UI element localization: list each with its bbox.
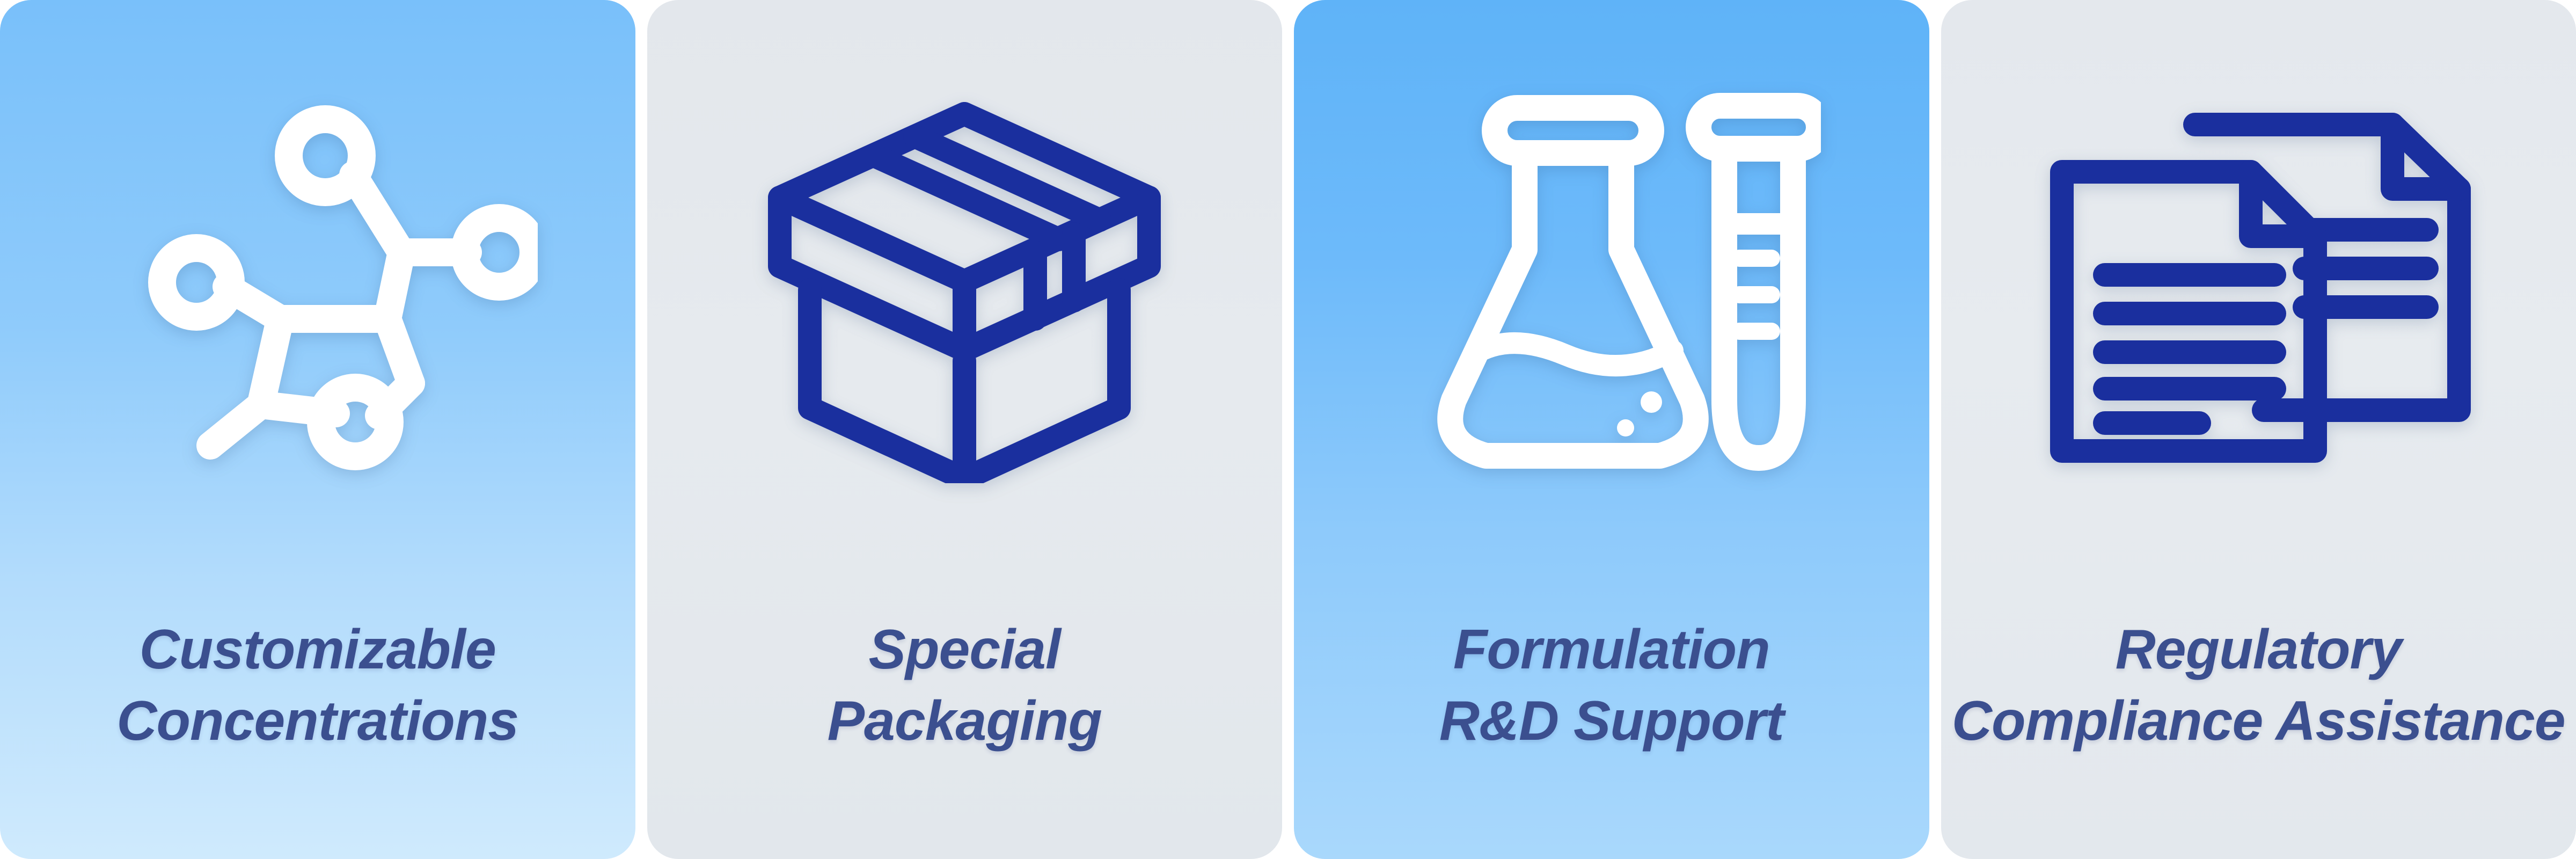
test-tube-icon xyxy=(1699,106,1819,458)
card-customizable-concentrations[interactable]: Customizable Concentrations xyxy=(0,0,635,859)
package-box-icon xyxy=(647,0,1283,569)
card-title-line-1: Customizable xyxy=(0,614,635,686)
card-title-line-2: R&D Support xyxy=(1294,686,1929,757)
molecule-icon xyxy=(0,0,635,569)
card-title-line-2: Concentrations xyxy=(0,686,635,757)
card-title-line-1: Formulation xyxy=(1294,614,1929,686)
card-regulatory-compliance-assistance[interactable]: Regulatory Compliance Assistance xyxy=(1941,0,2576,859)
card-title: Regulatory Compliance Assistance xyxy=(1909,614,2576,757)
bubble-small xyxy=(1617,419,1634,436)
card-formulation-rd-support[interactable]: Formulation R&D Support xyxy=(1294,0,1929,859)
flask-and-test-tube-icon xyxy=(1294,0,1929,569)
feature-cards-row: Customizable Concentrations xyxy=(0,0,2576,859)
documents-icon xyxy=(1941,0,2576,569)
bubble-large xyxy=(1641,391,1662,413)
card-special-packaging[interactable]: Special Packaging xyxy=(647,0,1283,859)
card-title-line-1: Special xyxy=(647,614,1283,686)
card-title: Special Packaging xyxy=(647,614,1283,757)
card-title: Customizable Concentrations xyxy=(0,614,635,757)
card-title-line-1: Regulatory xyxy=(1909,614,2576,686)
card-title-line-2: Compliance Assistance xyxy=(1909,686,2576,757)
card-title: Formulation R&D Support xyxy=(1294,614,1929,757)
card-title-line-2: Packaging xyxy=(647,686,1283,757)
